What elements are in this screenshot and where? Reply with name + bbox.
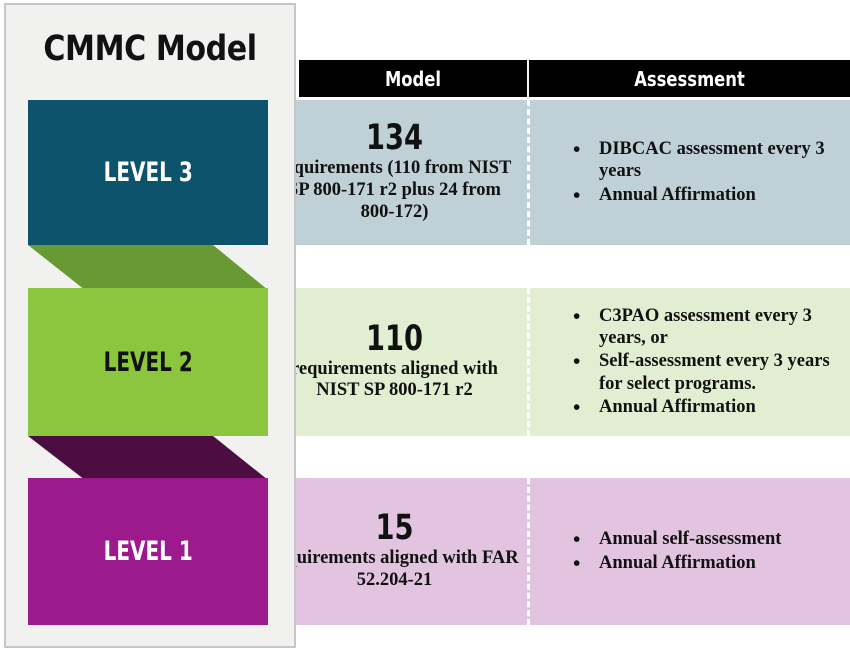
level-block-level-2[interactable]: LEVEL 2 (28, 288, 268, 436)
row-level-1: 15 requirements aligned with FAR 52.204-… (262, 478, 850, 625)
connector-level3-to-level2 (0, 245, 300, 290)
assessment-list-level-1: Annual self-assessment Annual Affirmatio… (553, 528, 840, 574)
level-block-level-1[interactable]: LEVEL 1 (28, 478, 268, 625)
assessment-cell-level-3: DIBCAC assessment every 3 years Annual A… (527, 100, 850, 245)
model-text-level-3: requirements (110 from NIST SP 800-171 r… (270, 158, 519, 223)
page-title: CMMC Model (24, 3, 275, 95)
header-model: Model (320, 60, 507, 97)
row-divider-level-2 (527, 288, 530, 436)
level-label-level-1: LEVEL 1 (103, 536, 192, 567)
level-label-level-3: LEVEL 3 (103, 157, 192, 188)
list-item: Self-assessment every 3 years for select… (573, 350, 840, 394)
list-item: C3PAO assessment every 3 years, or (573, 305, 840, 349)
model-number-level-3: 134 (297, 121, 491, 157)
connector-level2-to-level1 (0, 436, 300, 480)
table-header-bar: Model Assessment (299, 60, 850, 97)
list-item: Annual Affirmation (573, 396, 840, 418)
list-item: Annual Affirmation (573, 184, 840, 206)
row-divider-level-1 (527, 478, 530, 625)
list-item: Annual Affirmation (573, 552, 840, 574)
row-divider-level-3 (527, 100, 530, 245)
model-cell-level-3: 134 requirements (110 from NIST SP 800-1… (262, 100, 527, 245)
assessment-cell-level-2: C3PAO assessment every 3 years, or Self-… (527, 288, 850, 436)
header-assessment: Assessment (558, 60, 821, 97)
model-cell-level-2: 110 requirements aligned with NIST SP 80… (262, 288, 527, 436)
model-text-level-2: requirements aligned with NIST SP 800-17… (270, 359, 519, 403)
row-level-3: 134 requirements (110 from NIST SP 800-1… (262, 100, 850, 245)
model-number-level-2: 110 (297, 322, 491, 358)
assessment-list-level-3: DIBCAC assessment every 3 years Annual A… (553, 138, 840, 207)
level-block-level-3[interactable]: LEVEL 3 (28, 100, 268, 245)
assessment-cell-level-1: Annual self-assessment Annual Affirmatio… (527, 478, 850, 625)
list-item: DIBCAC assessment every 3 years (573, 138, 840, 182)
model-cell-level-1: 15 requirements aligned with FAR 52.204-… (262, 478, 527, 625)
cmmc-model-diagram: 134 requirements (110 from NIST SP 800-1… (0, 0, 850, 652)
model-text-level-1: requirements aligned with FAR 52.204-21 (270, 548, 519, 592)
level-label-level-2: LEVEL 2 (103, 347, 192, 378)
list-item: Annual self-assessment (573, 528, 840, 550)
assessment-list-level-2: C3PAO assessment every 3 years, or Self-… (553, 305, 840, 419)
model-number-level-1: 15 (297, 511, 491, 547)
header-separator (527, 60, 529, 97)
row-level-2: 110 requirements aligned with NIST SP 80… (262, 288, 850, 436)
